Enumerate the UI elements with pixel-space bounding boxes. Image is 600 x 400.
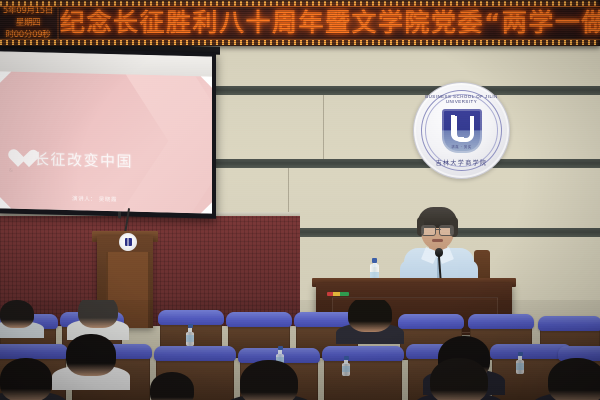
audience-member [78,300,118,328]
audience-head [0,358,52,400]
emblem-motto-text: 求真 · 务实 [414,145,509,150]
audience-head [150,372,194,400]
audience-member [66,334,116,376]
audience-head [430,358,488,400]
seat-headrest [538,316,600,331]
slide-corner-bottom-left [0,197,11,213]
audience-head [240,360,298,400]
wall-seam-1 [323,95,324,159]
seat-headrest [0,344,68,359]
auditorium-seat [324,346,402,400]
left-lectern-emblem-icon [119,233,137,251]
projection-screen: & 长征改变中国 演讲人： 吴晓霞 [0,47,216,218]
water-bottle [516,352,524,374]
slide-title: 长征改变中国 [34,150,133,170]
auditorium-photo: BUSINESS SCHOOL OF JILIN UNIVERSITY 求真 ·… [0,0,600,400]
speaker-mouth [432,239,443,242]
audience-member [0,358,52,400]
led-timestamp: 5年09月15日 星期四 时00分09秒 [0,5,56,41]
audience-member [430,358,488,400]
led-time-line: 时00分09秒 [5,30,50,40]
glasses-lens-left [421,225,436,236]
heart-sub-mark: & [9,168,13,174]
glasses-lens-right [439,225,454,236]
seat-headrest [158,310,224,325]
bottle-label [342,366,350,372]
slide-corner-top-left [0,71,11,82]
emblem-letter-u [453,116,474,142]
audience-head [66,334,116,376]
audience-head [348,300,392,332]
microphone-head [435,248,443,257]
slide-presenter-label: 演讲人： 吴晓霞 [72,195,117,204]
bottle-label [516,363,524,370]
audience-member [548,358,600,400]
bottle-label [186,335,194,342]
seat-headrest [226,312,292,327]
seat-headrest [154,346,236,361]
presentation-slide: & 长征改变中国 演讲人： 吴晓霞 [0,71,212,213]
emblem-chinese-text: 吉林大学商学院 [414,158,509,167]
water-bottle [342,356,350,376]
screen-bottom-weight [118,211,121,218]
seat-headrest [468,314,534,329]
slide-corner-bottom-right [201,202,212,213]
glasses-icon [420,225,455,234]
audience-member [240,360,298,400]
led-divider [57,4,59,42]
emblem-english-text: BUSINESS SCHOOL OF JILIN UNIVERSITY [414,94,509,104]
audience-seating [0,300,600,400]
led-weekday-line: 星期四 [16,18,41,28]
led-date-line: 5年09月15日 [3,6,53,16]
speaker-at-podium [392,208,492,288]
led-headline: 纪念长征胜利八十周年暨文学院党委“两学一做 [60,3,600,43]
audience-head [78,300,118,328]
audience-member [150,372,194,400]
slide-chevron-shape [118,71,212,213]
audience-head [548,358,600,400]
audience-member [0,300,34,328]
seat-headrest [322,346,404,361]
water-bottle [186,324,194,346]
table-indicator-lights [327,292,349,296]
university-emblem: BUSINESS SCHOOL OF JILIN UNIVERSITY 求真 ·… [413,82,510,179]
projection-screen-surface: & 长征改变中国 演讲人： 吴晓霞 [0,51,212,213]
audience-head [0,300,34,328]
led-scrolling-banner: 5年09月15日 星期四 时00分09秒 纪念长征胜利八十周年暨文学院党委“两学… [0,0,600,46]
audience-member [348,300,392,332]
seat-headrest [398,314,464,329]
